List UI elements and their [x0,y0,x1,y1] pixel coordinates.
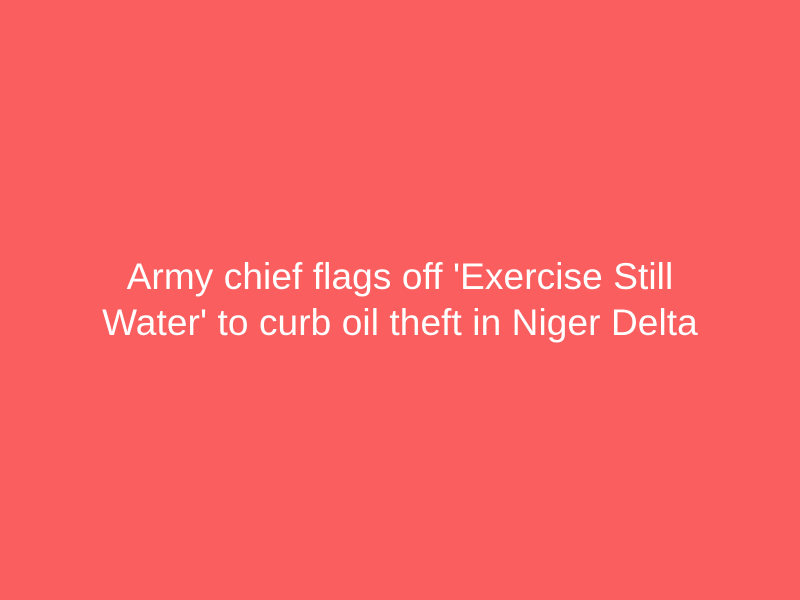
page-title: Army chief flags off 'Exercise Still Wat… [80,254,720,346]
headline-card: Army chief flags off 'Exercise Still Wat… [0,0,800,600]
headline-block: Army chief flags off 'Exercise Still Wat… [80,254,720,346]
